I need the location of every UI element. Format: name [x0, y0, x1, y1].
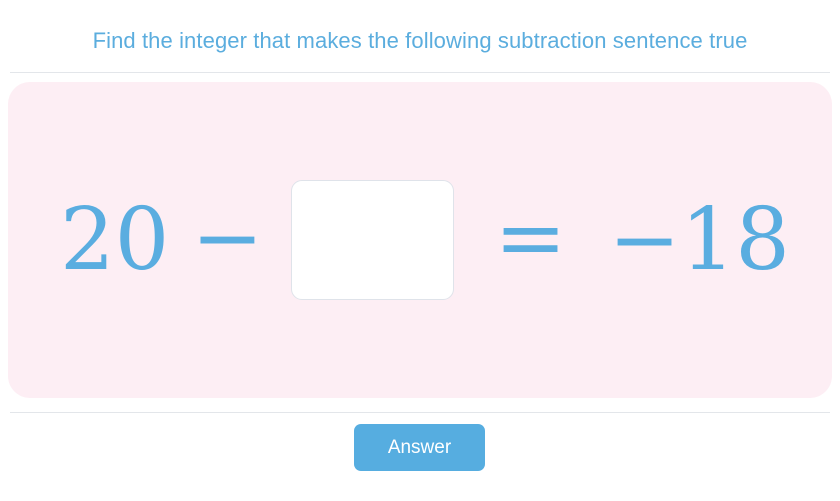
result-value: −18: [609, 197, 791, 283]
left-operand: 20: [60, 197, 169, 283]
exercise-page: Find the integer that makes the followin…: [0, 0, 840, 501]
equals-operator-icon: =: [494, 195, 566, 281]
page-title: Find the integer that makes the followin…: [0, 26, 840, 56]
equation-row: 20 − = −18: [8, 82, 832, 398]
problem-panel: 20 − = −18: [8, 82, 832, 398]
minus-operator-icon: −: [191, 195, 263, 281]
answer-button[interactable]: Answer: [354, 424, 485, 471]
divider-bottom: [10, 412, 830, 413]
divider-top: [10, 72, 830, 73]
answer-input[interactable]: [291, 180, 454, 300]
